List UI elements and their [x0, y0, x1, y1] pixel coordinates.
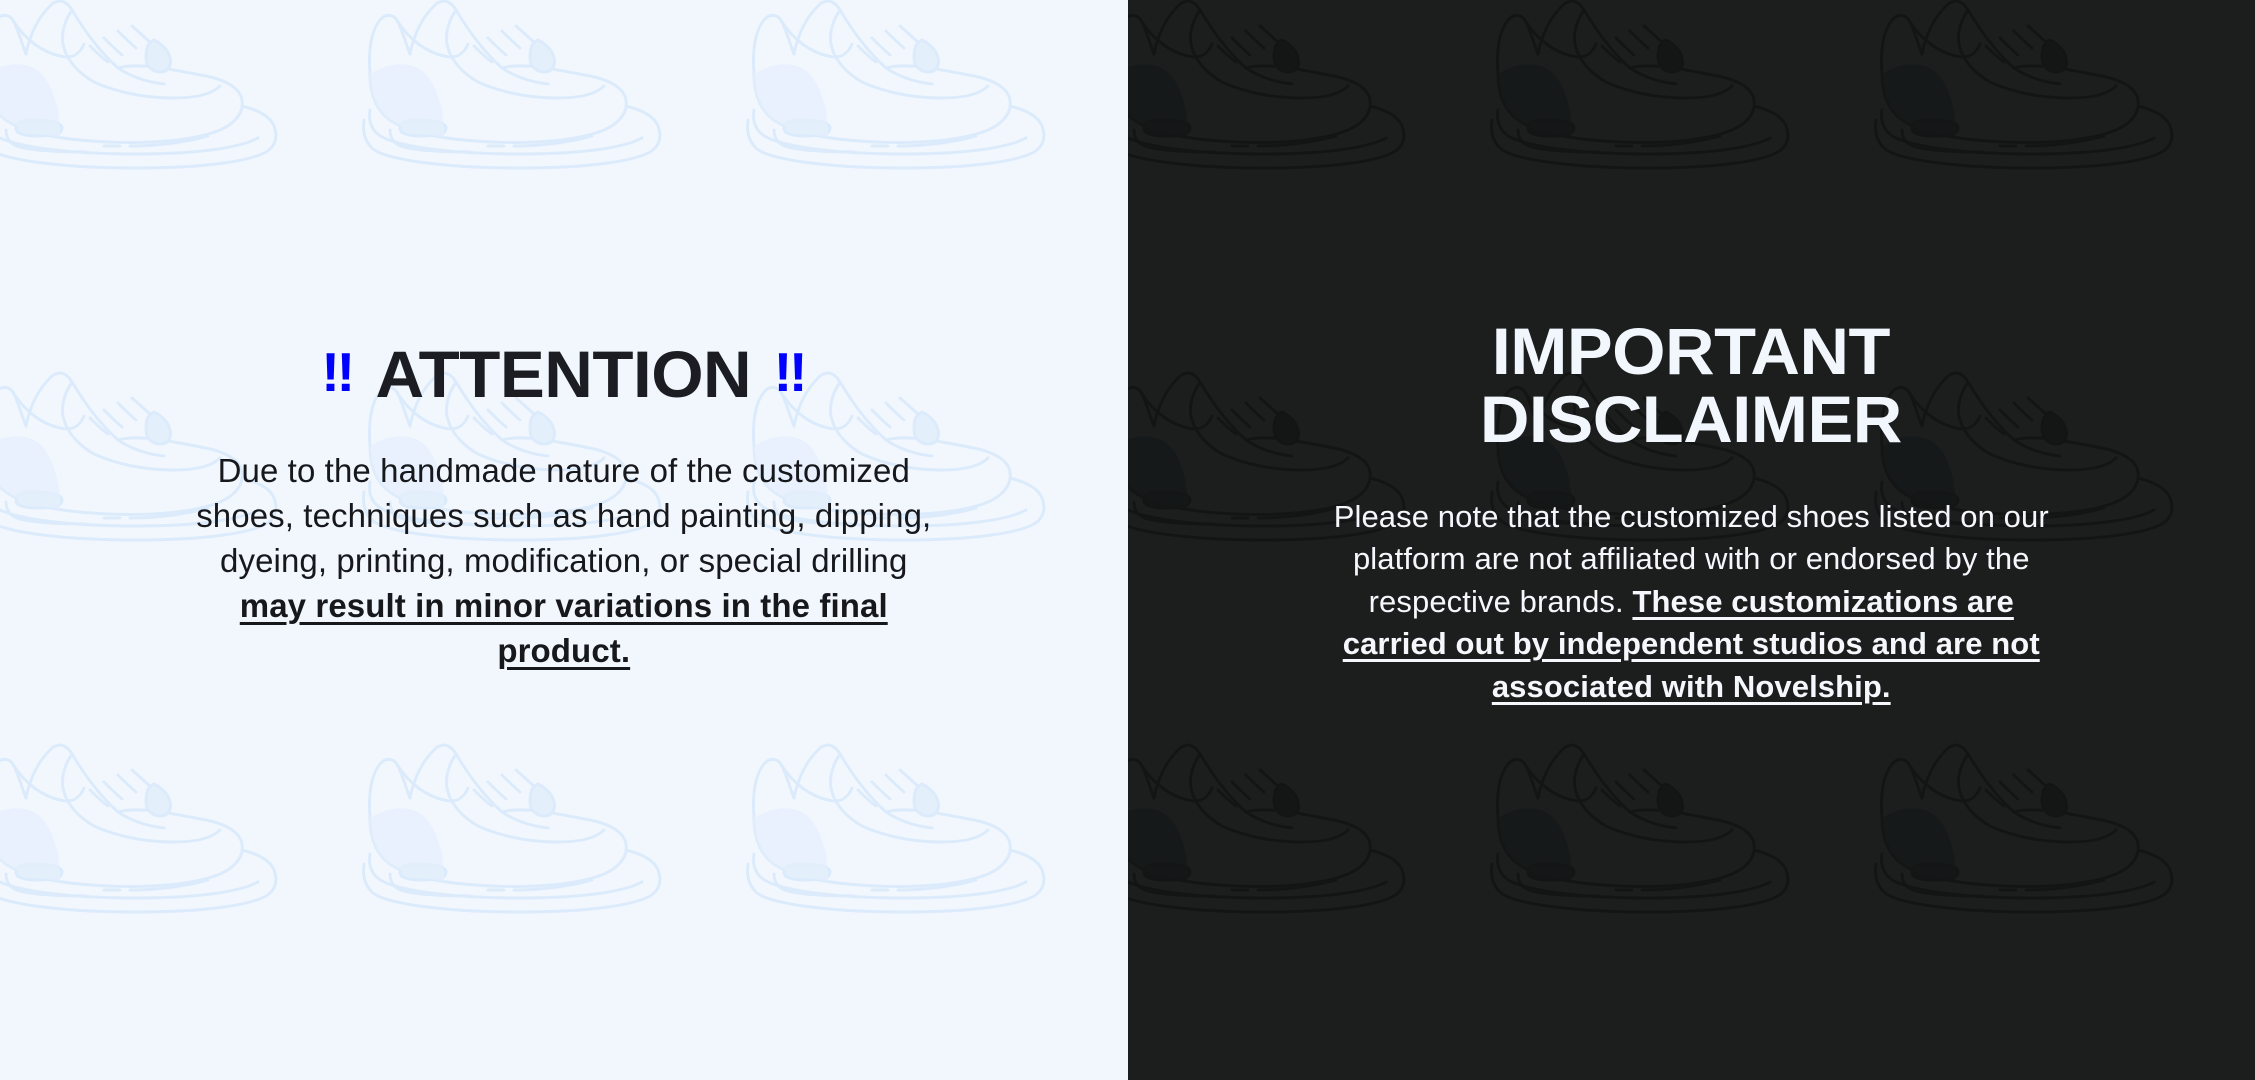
- attention-heading: ‼ ATTENTION ‼: [322, 341, 806, 407]
- attention-body-text: Due to the handmade nature of the custom…: [184, 449, 944, 673]
- attention-panel: ‼ ATTENTION ‼ Due to the handmade nature…: [0, 0, 1128, 1080]
- disclaimer-panel-content: IMPORTANT DISCLAIMER Please note that th…: [1128, 0, 2255, 1080]
- disclaimer-heading-line-1: IMPORTANT: [1492, 314, 1890, 388]
- attention-panel-content: ‼ ATTENTION ‼ Due to the handmade nature…: [0, 0, 1128, 1080]
- two-panel-notice-banner: ‼ ATTENTION ‼ Due to the handmade nature…: [0, 0, 2255, 1080]
- double-exclamation-icon-left: ‼: [322, 345, 354, 400]
- attention-heading-text: ATTENTION: [376, 341, 752, 407]
- disclaimer-panel: IMPORTANT DISCLAIMER Please note that th…: [1128, 0, 2255, 1080]
- disclaimer-body-text: Please note that the customized shoes li…: [1321, 496, 2061, 708]
- disclaimer-heading-line-2: DISCLAIMER: [1480, 382, 1902, 456]
- attention-body-normal: Due to the handmade nature of the custom…: [196, 452, 931, 579]
- attention-body-emphasis: may result in minor variations in the fi…: [240, 587, 888, 669]
- double-exclamation-icon-right: ‼: [774, 345, 806, 400]
- disclaimer-heading: IMPORTANT DISCLAIMER: [1480, 318, 1902, 454]
